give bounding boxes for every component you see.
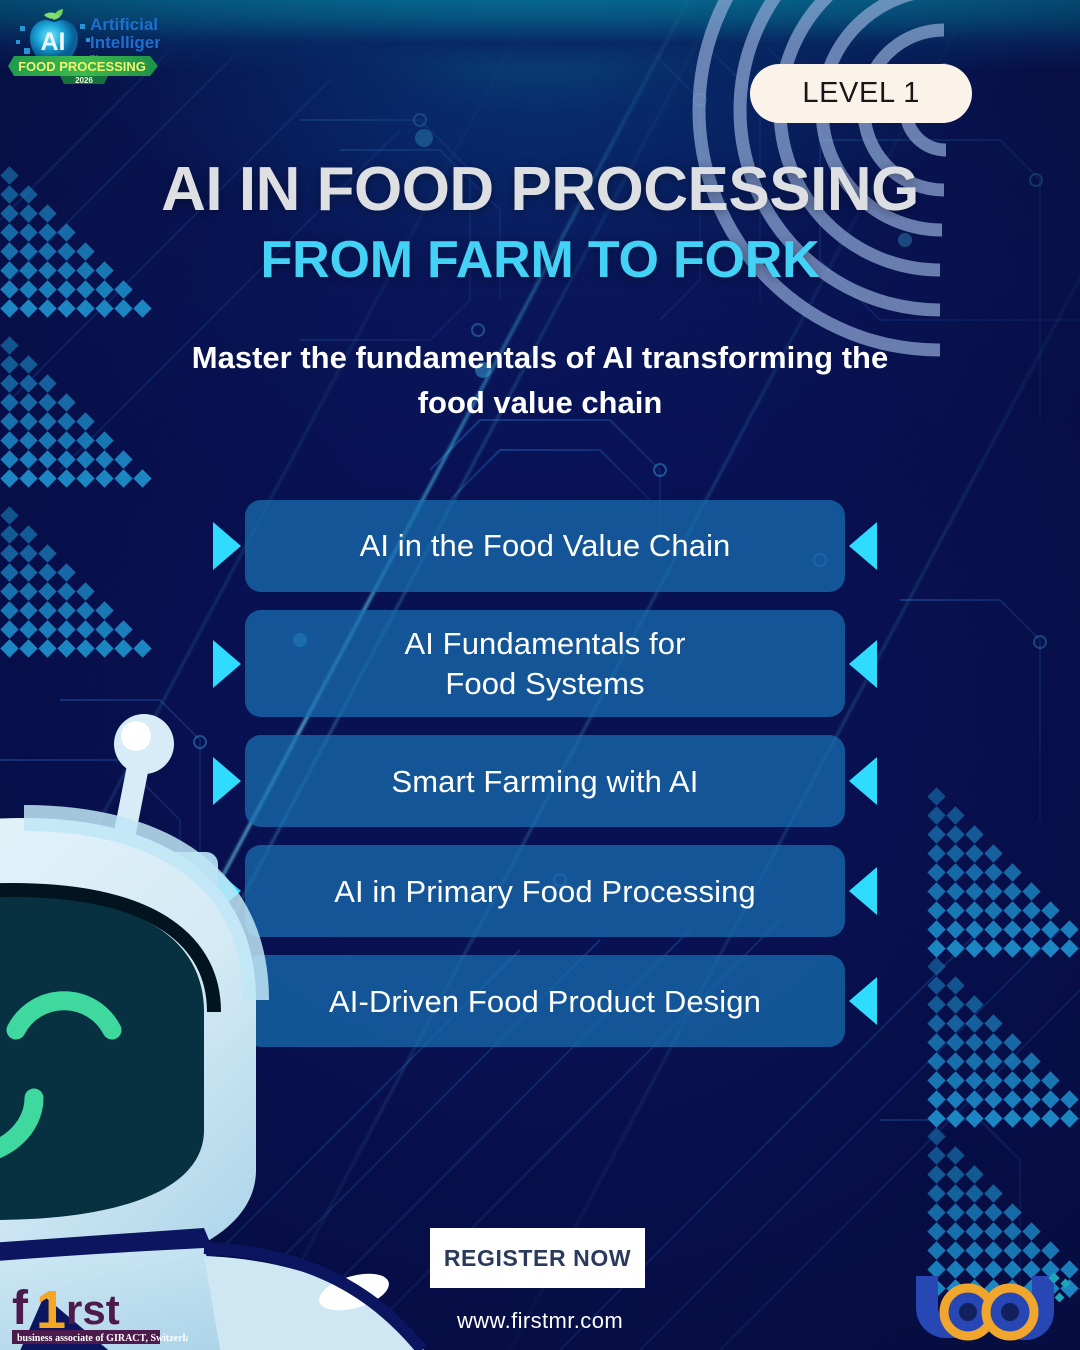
logo-line1: Artificial	[90, 15, 158, 34]
partner-logo	[910, 1268, 1070, 1344]
logo-line2: Intelligence	[90, 33, 160, 52]
page-title: AI IN FOOD PROCESSING FROM FARM TO FORK	[0, 158, 1080, 288]
robot-mascot	[0, 700, 464, 1350]
arrow-left-icon	[849, 640, 877, 688]
arrow-left-icon	[849, 867, 877, 915]
module-item-label: AI in the Food Value Chain	[360, 526, 731, 566]
arrow-right-icon	[213, 522, 241, 570]
svg-text:rst: rst	[66, 1286, 120, 1333]
page-subtitle: Master the fundamentals of AI transformi…	[0, 336, 1080, 426]
first-logo: f 1 rst business associate of GIRACT, Sw…	[8, 1278, 188, 1346]
title-line-1: AI IN FOOD PROCESSING	[0, 158, 1080, 221]
svg-text:AI: AI	[41, 28, 66, 56]
arrow-left-icon	[849, 977, 877, 1025]
logo-year: 2026	[75, 76, 93, 85]
title-line-2: FROM FARM TO FORK	[0, 233, 1080, 288]
arrow-left-icon	[849, 522, 877, 570]
register-now-button[interactable]: REGISTER NOW	[430, 1228, 645, 1288]
arrow-right-icon	[213, 640, 241, 688]
first-logo-text: f	[12, 1282, 29, 1335]
first-logo-tagline: business associate of GIRACT, Switzerlan…	[17, 1333, 188, 1344]
poster-canvas: AI Artificial Intelligence IN FOOD PROCE…	[0, 0, 1080, 1350]
module-item-label: AI Fundamentals forFood Systems	[404, 624, 685, 703]
event-logo: AI Artificial Intelligence IN FOOD PROCE…	[8, 4, 160, 86]
logo-ribbon: FOOD PROCESSING	[18, 59, 146, 74]
dot-pattern-right	[930, 790, 1080, 1310]
module-item[interactable]: AI in the Food Value Chain	[245, 500, 845, 592]
level-badge: LEVEL 1	[750, 64, 972, 123]
arrow-left-icon	[849, 757, 877, 805]
